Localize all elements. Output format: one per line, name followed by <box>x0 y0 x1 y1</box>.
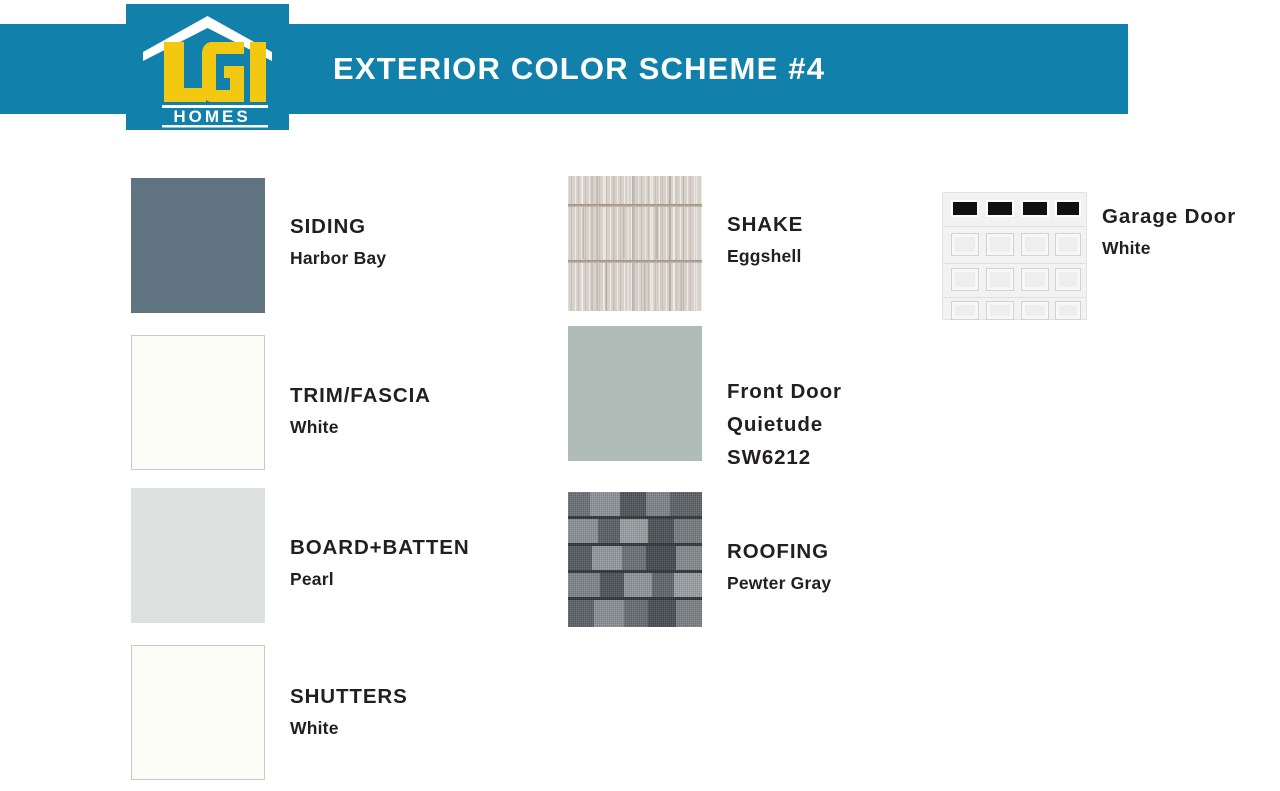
trim-fascia-title: TRIM/FASCIA <box>290 379 431 412</box>
shake-sub: Eggshell <box>727 241 803 273</box>
shake-title: SHAKE <box>727 208 803 241</box>
board-batten-sub: Pearl <box>290 564 470 596</box>
front-door-swatch <box>568 326 702 461</box>
front-door-title: Front Door <box>727 375 842 408</box>
shake-swatch <box>568 176 702 311</box>
trim-fascia-swatch <box>131 335 265 470</box>
shutters-title: SHUTTERS <box>290 680 408 713</box>
color-scheme-grid: SIDING Harbor Bay TRIM/FASCIA White BOAR… <box>0 0 1280 791</box>
roofing-swatch <box>568 492 702 627</box>
garage-door-sub: White <box>1102 233 1236 265</box>
front-door-code: SW6212 <box>727 441 842 474</box>
garage-door-image <box>942 192 1087 320</box>
trim-fascia-sub: White <box>290 412 431 444</box>
roofing-title: ROOFING <box>727 535 831 568</box>
front-door-sub: Quietude <box>727 408 842 441</box>
shake-texture <box>568 176 702 311</box>
siding-title: SIDING <box>290 210 386 243</box>
roofing-sub: Pewter Gray <box>727 568 831 600</box>
shutters-sub: White <box>290 713 408 745</box>
shingle-texture <box>568 492 702 627</box>
siding-sub: Harbor Bay <box>290 243 386 275</box>
shutters-swatch <box>131 645 265 780</box>
board-batten-title: BOARD+BATTEN <box>290 531 470 564</box>
board-batten-swatch <box>131 488 265 623</box>
garage-door-title: Garage Door <box>1102 200 1236 233</box>
siding-swatch <box>131 178 265 313</box>
